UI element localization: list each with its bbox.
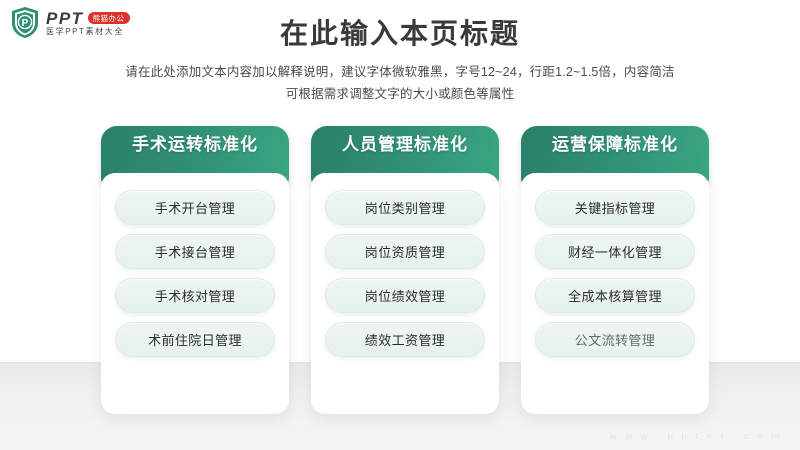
card-title-1: 手术运转标准化 [132, 135, 258, 155]
card-body-1: 手术开台管理 手术接台管理 手术核对管理 术前住院日管理 [101, 173, 289, 414]
brand-logo[interactable]: P PPT 熊猫办公 医学PPT素材大全 [10, 6, 130, 39]
card-column-3: 运营保障标准化 关键指标管理 财经一体化管理 全成本核算管理 公文流转管理 [521, 126, 709, 414]
subtitle-line-1: 请在此处添加文本内容加以解释说明，建议字体微软雅黑，字号12~24，行距1.2~… [0, 62, 800, 84]
list-item[interactable]: 公文流转管理 [535, 322, 695, 357]
slide-canvas: P PPT 熊猫办公 医学PPT素材大全 在此输入本页标题 请在此处添加文本内容… [0, 0, 800, 450]
subtitle-line-2: 可根据需求调整文字的大小或颜色等属性 [0, 84, 800, 106]
shield-p-icon: P [10, 6, 40, 39]
card-column-2: 人员管理标准化 岗位类别管理 岗位资质管理 岗位绩效管理 绩效工资管理 [311, 126, 499, 414]
card-column-1: 手术运转标准化 手术开台管理 手术接台管理 手术核对管理 术前住院日管理 [101, 126, 289, 414]
svg-text:P: P [22, 18, 29, 29]
list-item[interactable]: 岗位类别管理 [325, 190, 485, 225]
list-item[interactable]: 术前住院日管理 [115, 322, 275, 357]
card-body-3: 关键指标管理 财经一体化管理 全成本核算管理 公文流转管理 [521, 173, 709, 414]
list-item[interactable]: 全成本核算管理 [535, 278, 695, 313]
logo-tagline: 医学PPT素材大全 [46, 28, 130, 36]
list-item[interactable]: 绩效工资管理 [325, 322, 485, 357]
card-group: 手术运转标准化 手术开台管理 手术接台管理 手术核对管理 术前住院日管理 人员管… [101, 126, 709, 414]
logo-badge: 熊猫办公 [88, 12, 130, 24]
list-item[interactable]: 岗位资质管理 [325, 234, 485, 269]
card-title-3: 运营保障标准化 [552, 135, 678, 155]
page-subtitle: 请在此处添加文本内容加以解释说明，建议字体微软雅黑，字号12~24，行距1.2~… [0, 62, 800, 106]
list-item[interactable]: 手术开台管理 [115, 190, 275, 225]
card-body-2: 岗位类别管理 岗位资质管理 岗位绩效管理 绩效工资管理 [311, 173, 499, 414]
list-item[interactable]: 岗位绩效管理 [325, 278, 485, 313]
card-title-2: 人员管理标准化 [342, 135, 468, 155]
list-item[interactable]: 财经一体化管理 [535, 234, 695, 269]
site-watermark: w w w . p p t e r . c o m [610, 431, 782, 442]
logo-brand-text: PPT [46, 10, 84, 27]
list-item[interactable]: 关键指标管理 [535, 190, 695, 225]
list-item[interactable]: 手术接台管理 [115, 234, 275, 269]
list-item[interactable]: 手术核对管理 [115, 278, 275, 313]
